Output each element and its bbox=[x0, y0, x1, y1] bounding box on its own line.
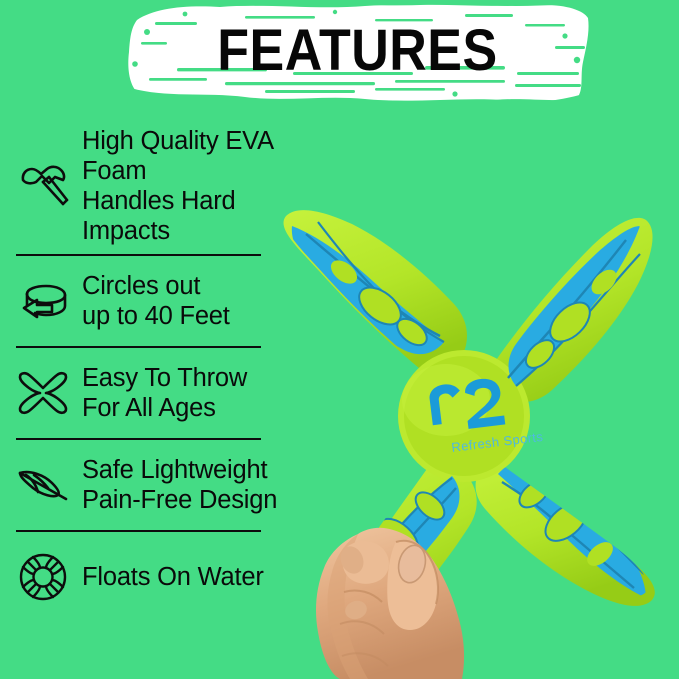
boomerang-x-icon bbox=[14, 366, 72, 420]
hammer-icon bbox=[14, 159, 72, 213]
divider bbox=[16, 530, 261, 532]
feature-item-floats-on-water: Floats On Water bbox=[0, 540, 330, 614]
feature-label: Floats On Water bbox=[82, 562, 264, 592]
feature-label: Circles out up to 40 Feet bbox=[82, 271, 230, 331]
feature-item-circles-out: Circles out up to 40 Feet bbox=[0, 264, 330, 338]
infographic-canvas: FEATURES bbox=[0, 0, 679, 679]
feature-item-high-quality-eva-foam: High Quality EVA Foam Handles Hard Impac… bbox=[0, 126, 330, 246]
circular-arrow-icon bbox=[14, 274, 72, 328]
feature-list: High Quality EVA Foam Handles Hard Impac… bbox=[0, 126, 330, 614]
feather-icon bbox=[14, 458, 72, 512]
divider bbox=[16, 438, 261, 440]
life-ring-icon bbox=[14, 550, 72, 604]
page-title: FEATURES bbox=[125, 22, 590, 80]
feature-item-easy-to-throw: Easy To Throw For All Ages bbox=[0, 356, 330, 430]
feature-label: Safe Lightweight Pain-Free Design bbox=[82, 455, 277, 515]
feature-label: Easy To Throw For All Ages bbox=[82, 363, 247, 423]
divider bbox=[16, 254, 261, 256]
feature-item-safe-lightweight: Safe Lightweight Pain-Free Design bbox=[0, 448, 330, 522]
feature-label: High Quality EVA Foam Handles Hard Impac… bbox=[82, 126, 330, 246]
divider bbox=[16, 346, 261, 348]
